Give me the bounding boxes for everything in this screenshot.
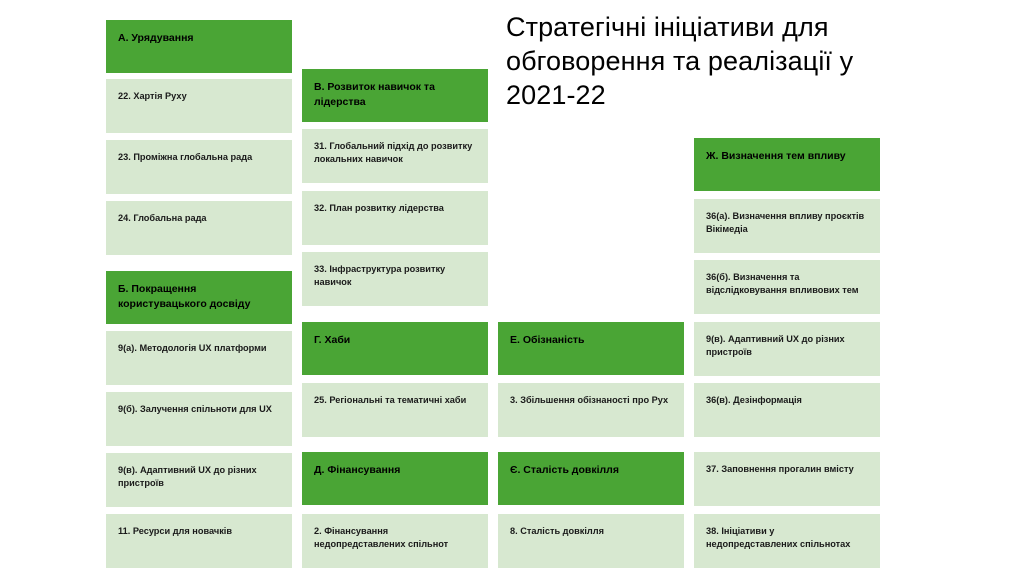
initiative-block[interactable]: 33. Інфраструктура розвитку навичок (302, 252, 488, 306)
initiative-block[interactable]: 37. Заповнення прогалин вмісту (694, 452, 880, 506)
category-header-block[interactable]: Е. Обізнаність (498, 322, 684, 375)
initiative-label: 37. Заповнення прогалин вмісту (706, 463, 868, 476)
initiative-label: 9(б). Залучення спільноти для UX (118, 403, 280, 416)
initiative-label: 3. Збільшення обізнаності про Рух (510, 394, 672, 407)
initiative-label: 22. Хартія Руху (118, 90, 280, 103)
initiative-block[interactable]: 3. Збільшення обізнаності про Рух (498, 383, 684, 437)
initiative-label: 31. Глобальний підхід до розвитку локаль… (314, 140, 476, 167)
category-header-block[interactable]: Г. Хаби (302, 322, 488, 375)
category-header-label: Ж. Визначення тем впливу (706, 149, 868, 164)
initiative-block[interactable]: 36(в). Дезінформація (694, 383, 880, 437)
initiative-label: 32. План розвитку лідерства (314, 202, 476, 215)
initiative-label: 9(в). Адаптивний UX до різних пристроїв (706, 333, 868, 360)
initiative-label: 9(а). Методологія UX платформи (118, 342, 280, 355)
category-header-label: Е. Обізнаність (510, 333, 672, 348)
initiative-block[interactable]: 24. Глобальна рада (106, 201, 292, 255)
category-header-label: Г. Хаби (314, 333, 476, 348)
initiative-block[interactable]: 25. Регіональні та тематичні хаби (302, 383, 488, 437)
initiative-block[interactable]: 22. Хартія Руху (106, 79, 292, 133)
column-4: Ж. Визначення тем впливу36(а). Визначенн… (694, 0, 880, 576)
column-1: А. Урядування22. Хартія Руху23. Проміжна… (106, 0, 292, 576)
initiative-block[interactable]: 8. Сталість довкілля (498, 514, 684, 568)
slide-canvas: Стратегічні ініціативи для обговорення т… (0, 0, 1024, 576)
initiative-block[interactable]: 9(в). Адаптивний UX до різних пристроїв (694, 322, 880, 376)
initiative-block[interactable]: 9(а). Методологія UX платформи (106, 331, 292, 385)
initiative-label: 36(в). Дезінформація (706, 394, 868, 407)
initiative-block[interactable]: 9(б). Залучення спільноти для UX (106, 392, 292, 446)
category-header-block[interactable]: А. Урядування (106, 20, 292, 73)
initiative-block[interactable]: 36(а). Визначення впливу проєктів Вікіме… (694, 199, 880, 253)
column-2: В. Розвиток навичок та лідерства31. Глоб… (302, 0, 488, 576)
initiative-label: 11. Ресурси для новачків (118, 525, 280, 538)
category-header-label: Є. Сталість довкілля (510, 463, 672, 478)
category-header-block[interactable]: В. Розвиток навичок та лідерства (302, 69, 488, 122)
initiative-block[interactable]: 36(б). Визначення та відслідковування вп… (694, 260, 880, 314)
initiative-block[interactable]: 31. Глобальний підхід до розвитку локаль… (302, 129, 488, 183)
initiative-label: 23. Проміжна глобальна рада (118, 151, 280, 164)
category-header-block[interactable]: Б. Покращення користувацького досвіду (106, 271, 292, 324)
category-header-block[interactable]: Є. Сталість довкілля (498, 452, 684, 505)
initiative-label: 36(б). Визначення та відслідковування вп… (706, 271, 868, 298)
initiative-block[interactable]: 32. План розвитку лідерства (302, 191, 488, 245)
category-header-label: В. Розвиток навичок та лідерства (314, 80, 476, 110)
category-header-label: А. Урядування (118, 31, 280, 46)
initiative-label: 25. Регіональні та тематичні хаби (314, 394, 476, 407)
initiative-label: 33. Інфраструктура розвитку навичок (314, 263, 476, 290)
initiative-label: 24. Глобальна рада (118, 212, 280, 225)
category-header-block[interactable]: Д. Фінансування (302, 452, 488, 505)
initiative-block[interactable]: 38. Ініціативи у недопредставлених спіль… (694, 514, 880, 568)
category-header-label: Б. Покращення користувацького досвіду (118, 282, 280, 312)
initiative-label: 36(а). Визначення впливу проєктів Вікіме… (706, 210, 868, 237)
initiative-label: 38. Ініціативи у недопредставлених спіль… (706, 525, 868, 552)
initiative-label: 8. Сталість довкілля (510, 525, 672, 538)
column-3: Е. Обізнаність3. Збільшення обізнаності … (498, 0, 684, 576)
category-header-block[interactable]: Ж. Визначення тем впливу (694, 138, 880, 191)
initiative-block[interactable]: 11. Ресурси для новачків (106, 514, 292, 568)
initiative-block[interactable]: 2. Фінансування недопредставлених спільн… (302, 514, 488, 568)
initiative-block[interactable]: 23. Проміжна глобальна рада (106, 140, 292, 194)
category-header-label: Д. Фінансування (314, 463, 476, 478)
initiative-label: 9(в). Адаптивний UX до різних пристроїв (118, 464, 280, 491)
initiative-block[interactable]: 9(в). Адаптивний UX до різних пристроїв (106, 453, 292, 507)
initiative-label: 2. Фінансування недопредставлених спільн… (314, 525, 476, 552)
